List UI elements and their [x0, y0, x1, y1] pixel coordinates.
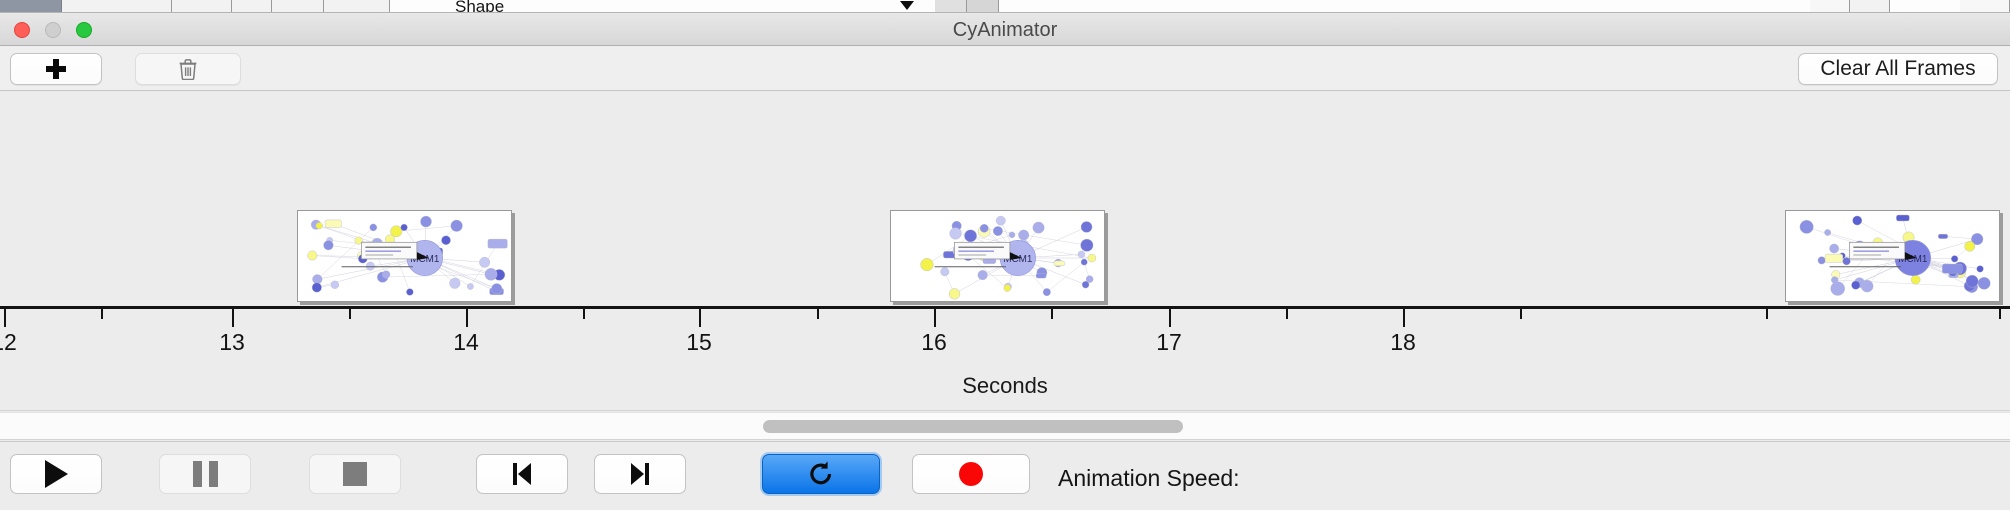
axis-tick-minor	[1286, 309, 1288, 319]
axis-tick-minor	[583, 309, 585, 319]
bg-tab	[232, 0, 272, 13]
stop-icon	[343, 462, 367, 486]
axis-tick-minor	[1766, 309, 1768, 319]
axis-tick-minor	[1999, 309, 2001, 319]
stop-button[interactable]	[309, 454, 401, 494]
axis-tick-label: 15	[686, 329, 712, 356]
animation-speed-label: Animation Speed:	[1058, 465, 1240, 492]
trash-icon	[179, 59, 197, 80]
axis-tick-major	[4, 309, 6, 327]
axis-tick-major	[232, 309, 234, 327]
axis-tick-label: 17	[1156, 329, 1182, 356]
bg-window-label: Shape	[455, 0, 504, 13]
timeline-frame-thumbnail[interactable]: MCM1	[297, 210, 512, 302]
axis-tick-label: 14	[453, 329, 479, 356]
timeline-panel[interactable]: MCM1 MCM1 MCM1 Seconds 12131415161718	[0, 91, 2010, 411]
axis-tick-major	[1169, 309, 1171, 327]
bg-tab	[935, 0, 967, 13]
window-title: CyAnimator	[0, 19, 2010, 42]
bg-tab	[62, 0, 172, 13]
record-button[interactable]	[912, 454, 1030, 494]
axis-tick-label: 16	[921, 329, 947, 356]
background-window-strip: Shape	[0, 0, 2010, 13]
title-bar: CyAnimator	[0, 13, 2010, 46]
axis-tick-label: 13	[219, 329, 245, 356]
timeline-axis	[0, 306, 2010, 309]
bg-tab	[272, 0, 324, 13]
toolbar: Clear All Frames	[0, 46, 2010, 91]
timeline-scrollbar-thumb[interactable]	[763, 420, 1183, 433]
axis-tick-major	[934, 309, 936, 327]
add-frame-button[interactable]	[10, 53, 102, 85]
bg-tab	[324, 0, 390, 13]
step-forward-button[interactable]	[594, 454, 686, 494]
step-back-button[interactable]	[476, 454, 568, 494]
record-icon	[959, 462, 983, 486]
axis-tick-label: 18	[1390, 329, 1416, 356]
axis-tick-minor	[101, 309, 103, 319]
plus-icon	[46, 59, 66, 79]
timeline-frame-thumbnail[interactable]: MCM1	[1785, 210, 2000, 302]
bg-tab	[1960, 0, 2010, 13]
axis-tick-major	[466, 309, 468, 327]
bg-tab	[1810, 0, 1850, 13]
frames-area[interactable]: MCM1 MCM1 MCM1	[0, 91, 2010, 306]
loop-button[interactable]	[762, 454, 880, 494]
clear-all-frames-button[interactable]: Clear All Frames	[1798, 53, 1998, 85]
pause-button[interactable]	[159, 454, 251, 494]
axis-tick-major	[1403, 309, 1405, 327]
bg-tab	[1850, 0, 1890, 13]
playback-bar: Animation Speed:	[0, 441, 2010, 510]
bg-tab	[967, 0, 999, 13]
play-icon	[45, 460, 68, 488]
axis-tick-major	[699, 309, 701, 327]
loop-icon	[806, 459, 836, 489]
skip-back-icon	[510, 461, 534, 487]
delete-frame-button[interactable]	[135, 53, 241, 85]
axis-tick-minor	[1051, 309, 1053, 319]
axis-tick-minor	[817, 309, 819, 319]
axis-tick-label: 12	[0, 329, 17, 356]
play-button[interactable]	[10, 454, 102, 494]
skip-forward-icon	[628, 461, 652, 487]
pause-icon	[193, 461, 218, 487]
timeline-frame-thumbnail[interactable]: MCM1	[890, 210, 1105, 302]
axis-tick-minor	[349, 309, 351, 319]
axis-title: Seconds	[0, 373, 2010, 399]
bg-tab	[172, 0, 232, 13]
axis-tick-minor	[1520, 309, 1522, 319]
bg-tab	[0, 0, 62, 13]
cyanimator-window: Shape CyAnimator Clear All Frames	[0, 0, 2010, 510]
bg-marker-icon	[900, 1, 914, 10]
